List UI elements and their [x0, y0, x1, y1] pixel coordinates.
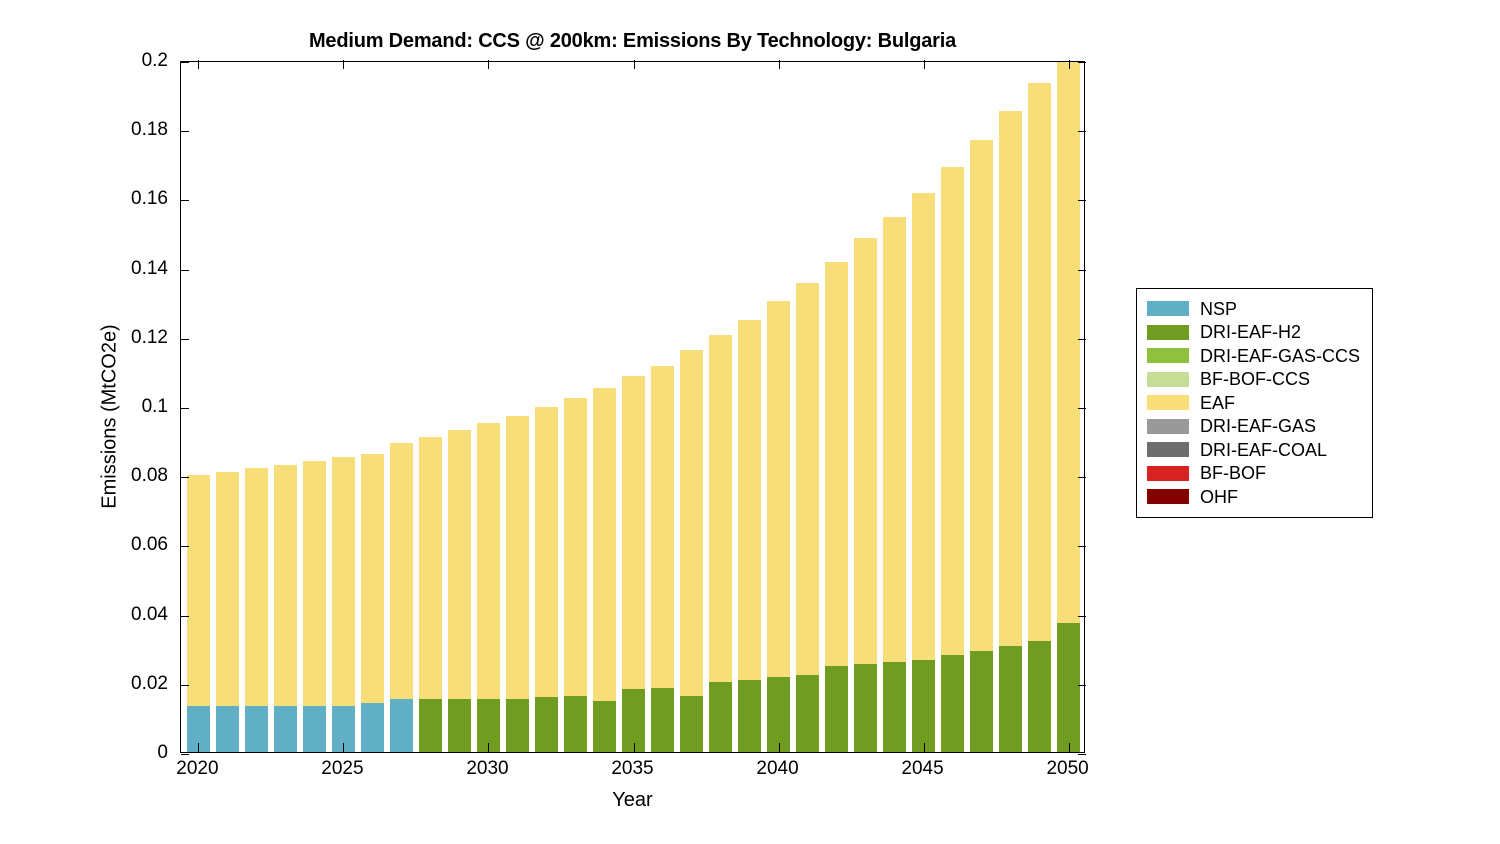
y-tick-mark	[181, 270, 189, 271]
y-tick-mark-right	[1078, 754, 1086, 755]
bar-segment	[970, 651, 993, 752]
bar-segment	[767, 301, 790, 677]
bar-group	[622, 376, 645, 752]
x-axis-label: Year	[180, 789, 1085, 812]
bar-segment	[419, 437, 442, 699]
bar-segment	[912, 660, 935, 752]
x-tick-label: 2035	[573, 758, 693, 780]
y-tick-label: 0.18	[0, 119, 168, 141]
bar-group	[1028, 83, 1051, 752]
bar-group	[216, 472, 239, 752]
bar-segment	[883, 217, 906, 663]
legend-item[interactable]: EAF	[1147, 391, 1360, 415]
y-tick-mark-right	[1078, 477, 1086, 478]
bar-segment	[1057, 623, 1080, 752]
bar-segment	[216, 706, 239, 752]
legend-item-label: DRI-EAF-COAL	[1200, 441, 1327, 459]
bar-group	[912, 193, 935, 752]
x-tick-mark	[924, 743, 925, 752]
chart-figure: Medium Demand: CCS @ 200km: Emissions By…	[0, 0, 1500, 844]
y-tick-mark	[181, 200, 189, 201]
bar-group	[709, 335, 732, 752]
bar-segment	[825, 262, 848, 666]
bar-segment	[796, 283, 819, 676]
bar-segment	[709, 682, 732, 752]
y-tick-label: 0.2	[0, 50, 168, 72]
bar-group	[332, 457, 355, 752]
x-tick-label: 2030	[427, 758, 547, 780]
bar-group	[680, 350, 703, 752]
y-tick-mark-right	[1078, 408, 1086, 409]
y-tick-mark-right	[1078, 270, 1086, 271]
bar-group	[593, 388, 616, 752]
y-tick-label: 0.08	[0, 465, 168, 487]
x-tick-mark-top	[779, 60, 780, 69]
bar-group	[187, 475, 210, 752]
legend-swatch-icon	[1147, 442, 1189, 457]
bar-segment	[216, 472, 239, 706]
bar-group	[883, 217, 906, 752]
bar-segment	[477, 423, 500, 698]
bar-segment	[506, 416, 529, 699]
y-tick-label: 0.14	[0, 258, 168, 280]
bar-group	[941, 167, 964, 752]
y-tick-mark-right	[1078, 200, 1086, 201]
bar-segment	[854, 664, 877, 752]
bar-segment	[680, 350, 703, 695]
bars-layer	[181, 62, 1084, 752]
legend-item-label: DRI-EAF-GAS	[1200, 417, 1316, 435]
plot-area	[180, 61, 1085, 753]
bar-segment	[941, 167, 964, 655]
y-tick-mark	[181, 339, 189, 340]
y-tick-mark-right	[1078, 616, 1086, 617]
legend-swatch-icon	[1147, 489, 1189, 504]
bar-segment	[564, 398, 587, 696]
bar-group	[245, 468, 268, 752]
x-tick-mark-top	[198, 60, 199, 69]
x-tick-label: 2040	[718, 758, 838, 780]
y-tick-mark	[181, 408, 189, 409]
bar-segment	[709, 335, 732, 682]
bar-segment	[448, 430, 471, 698]
bar-segment	[651, 366, 674, 688]
legend-swatch-icon	[1147, 301, 1189, 316]
bar-segment	[593, 388, 616, 701]
y-tick-mark	[181, 62, 189, 63]
legend-item[interactable]: BF-BOF	[1147, 462, 1360, 486]
bar-segment	[448, 699, 471, 752]
bar-group	[448, 430, 471, 752]
x-tick-mark-top	[1069, 60, 1070, 69]
bar-group	[999, 111, 1022, 752]
y-tick-mark	[181, 131, 189, 132]
legend-swatch-icon	[1147, 419, 1189, 434]
y-tick-mark-right	[1078, 685, 1086, 686]
x-tick-mark-top	[924, 60, 925, 69]
legend: NSPDRI-EAF-H2DRI-EAF-GAS-CCSBF-BOF-CCSEA…	[1136, 288, 1373, 518]
bar-segment	[1028, 641, 1051, 752]
bar-segment	[390, 443, 413, 700]
y-tick-label: 0.04	[0, 604, 168, 626]
bar-segment	[361, 703, 384, 752]
x-tick-label: 2020	[137, 758, 257, 780]
bar-segment	[999, 111, 1022, 646]
legend-item[interactable]: DRI-EAF-COAL	[1147, 438, 1360, 462]
bar-group	[651, 366, 674, 752]
bar-group	[477, 423, 500, 752]
bar-segment	[651, 688, 674, 752]
bar-segment	[825, 666, 848, 752]
bar-segment	[680, 696, 703, 752]
bar-segment	[912, 193, 935, 660]
y-tick-mark	[181, 546, 189, 547]
y-tick-mark-right	[1078, 546, 1086, 547]
legend-item[interactable]: DRI-EAF-H2	[1147, 321, 1360, 345]
x-tick-mark	[1069, 743, 1070, 752]
y-tick-mark-right	[1078, 131, 1086, 132]
bar-segment	[738, 320, 761, 680]
y-tick-mark	[181, 754, 189, 755]
bar-segment	[1057, 62, 1080, 623]
bar-segment	[796, 675, 819, 752]
bar-group	[854, 238, 877, 752]
bar-group	[796, 282, 819, 752]
bar-segment	[303, 706, 326, 752]
y-tick-label: 0.06	[0, 534, 168, 556]
bar-group	[564, 398, 587, 752]
bar-segment	[506, 699, 529, 752]
x-tick-label: 2025	[282, 758, 402, 780]
bar-segment	[245, 468, 268, 705]
x-tick-label: 2050	[1008, 758, 1128, 780]
bar-segment	[274, 706, 297, 752]
legend-item-label: DRI-EAF-H2	[1200, 323, 1301, 341]
legend-item[interactable]: BF-BOF-CCS	[1147, 368, 1360, 392]
legend-item-label: EAF	[1200, 394, 1235, 412]
bar-segment	[593, 701, 616, 752]
legend-item[interactable]: NSP	[1147, 297, 1360, 321]
bar-group	[970, 140, 993, 752]
legend-item[interactable]: OHF	[1147, 485, 1360, 509]
y-tick-label: 0.12	[0, 327, 168, 349]
legend-swatch-icon	[1147, 372, 1189, 387]
y-tick-mark-right	[1078, 62, 1086, 63]
legend-item-label: BF-BOF-CCS	[1200, 370, 1310, 388]
y-tick-label: 0.16	[0, 188, 168, 210]
legend-swatch-icon	[1147, 348, 1189, 363]
bar-segment	[535, 407, 558, 697]
bar-segment	[622, 376, 645, 689]
x-tick-mark-top	[343, 60, 344, 69]
x-tick-mark	[779, 743, 780, 752]
bar-segment	[245, 706, 268, 752]
bar-segment	[970, 140, 993, 651]
x-tick-mark	[634, 743, 635, 752]
bar-group	[361, 454, 384, 752]
bar-group	[535, 407, 558, 752]
bar-segment	[941, 655, 964, 752]
bar-group	[274, 465, 297, 752]
bar-segment	[303, 461, 326, 706]
bar-segment	[767, 677, 790, 752]
bar-group	[767, 301, 790, 752]
legend-item-label: DRI-EAF-GAS-CCS	[1200, 347, 1360, 365]
bar-group	[390, 443, 413, 752]
x-tick-mark	[343, 743, 344, 752]
legend-item-label: NSP	[1200, 300, 1237, 318]
y-tick-mark	[181, 616, 189, 617]
legend-item-label: OHF	[1200, 488, 1238, 506]
y-tick-mark	[181, 477, 189, 478]
x-tick-mark-top	[634, 60, 635, 69]
bar-segment	[999, 646, 1022, 752]
bar-segment	[883, 662, 906, 752]
bar-segment	[419, 699, 442, 752]
legend-item-label: BF-BOF	[1200, 464, 1266, 482]
bar-group	[303, 461, 326, 752]
bar-segment	[738, 680, 761, 752]
bar-segment	[390, 699, 413, 752]
bar-group	[419, 437, 442, 752]
legend-swatch-icon	[1147, 325, 1189, 340]
bar-segment	[187, 475, 210, 705]
bar-group	[1057, 62, 1080, 752]
bar-segment	[1028, 83, 1051, 641]
bar-segment	[535, 697, 558, 752]
x-tick-mark-top	[488, 60, 489, 69]
y-tick-label: 0.02	[0, 673, 168, 695]
legend-item[interactable]: DRI-EAF-GAS	[1147, 415, 1360, 439]
bar-segment	[274, 465, 297, 706]
y-tick-mark	[181, 685, 189, 686]
x-tick-mark	[488, 743, 489, 752]
x-tick-mark	[198, 743, 199, 752]
y-tick-mark-right	[1078, 339, 1086, 340]
bar-group	[738, 320, 761, 753]
legend-swatch-icon	[1147, 395, 1189, 410]
bar-segment	[564, 696, 587, 752]
bar-group	[506, 416, 529, 752]
bar-group	[825, 262, 848, 752]
bar-segment	[854, 238, 877, 664]
y-tick-label: 0.1	[0, 396, 168, 418]
legend-item[interactable]: DRI-EAF-GAS-CCS	[1147, 344, 1360, 368]
legend-swatch-icon	[1147, 466, 1189, 481]
x-tick-label: 2045	[863, 758, 983, 780]
chart-title: Medium Demand: CCS @ 200km: Emissions By…	[180, 30, 1085, 53]
bar-segment	[361, 454, 384, 703]
bar-segment	[332, 457, 355, 705]
